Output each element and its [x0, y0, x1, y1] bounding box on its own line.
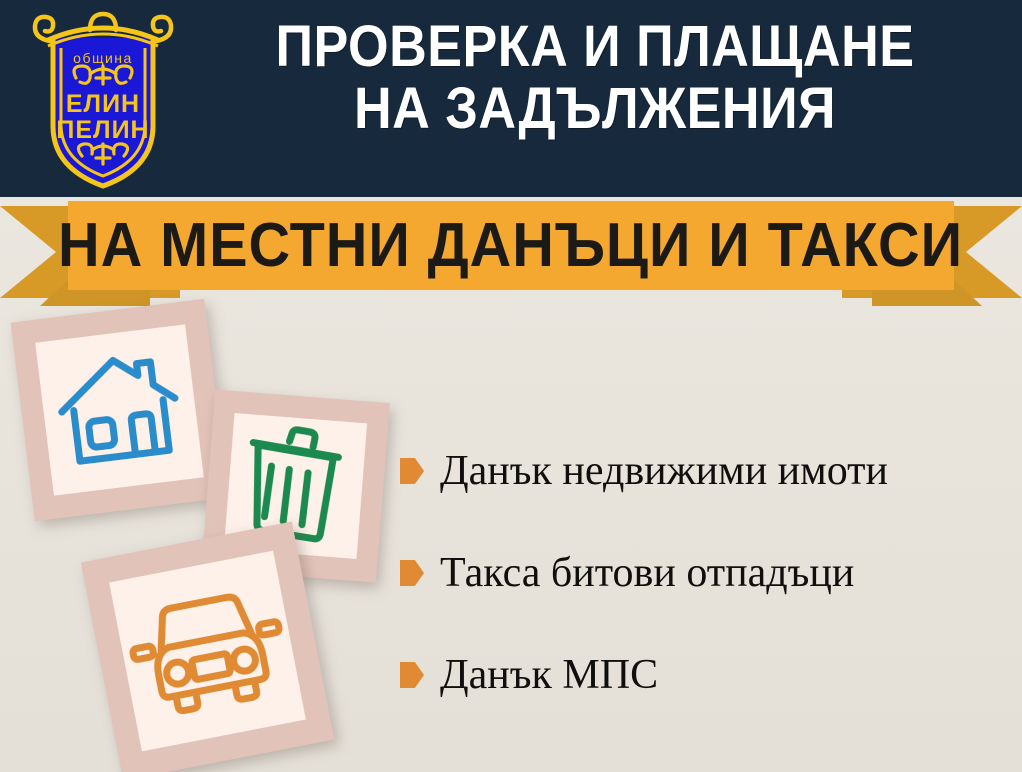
stamp-scalloped-edge — [81, 522, 334, 772]
list-item[interactable]: Такса битови отпадъци — [400, 522, 1010, 624]
list-item-label: Данък МПС — [440, 652, 658, 698]
arrow-bullet-icon — [400, 458, 424, 484]
list-item-label: Такса битови отпадъци — [440, 550, 854, 596]
ribbon-subtitle: НА МЕСТНИ ДАНЪЦИ И ТАКСИ — [59, 215, 964, 277]
municipality-crest-icon: община ЕЛИН ПЕЛИН — [28, 8, 178, 190]
stamp-card-house — [11, 299, 229, 521]
stamp-card-car — [81, 522, 334, 772]
list-item-label: Данък недвижими имоти — [440, 448, 888, 494]
ribbon-main-panel: НА МЕСТНИ ДАНЪЦИ И ТАКСИ — [68, 201, 954, 290]
arrow-bullet-icon — [400, 662, 424, 688]
list-item[interactable]: Данък МПС — [400, 624, 1010, 726]
stamp-scalloped-edge — [11, 299, 229, 521]
page-title: ПРОВЕРКА И ПЛАЩАНЕ НА ЗАДЪЛЖЕНИЯ — [222, 16, 969, 140]
list-item[interactable]: Данък недвижими имоти — [400, 420, 1010, 522]
arrow-bullet-icon — [400, 560, 424, 586]
poster-canvas: ПРОВЕРКА И ПЛАЩАНЕ НА ЗАДЪЛЖЕНИЯ община — [0, 0, 1022, 772]
ribbon-banner: НА МЕСТНИ ДАНЪЦИ И ТАКСИ — [0, 196, 1022, 311]
tax-types-list: Данък недвижими имоти Такса битови отпад… — [400, 420, 1010, 726]
svg-text:ЕЛИН: ЕЛИН — [66, 90, 140, 118]
svg-text:община: община — [73, 50, 133, 66]
svg-text:ПЕЛИН: ПЕЛИН — [56, 116, 149, 144]
